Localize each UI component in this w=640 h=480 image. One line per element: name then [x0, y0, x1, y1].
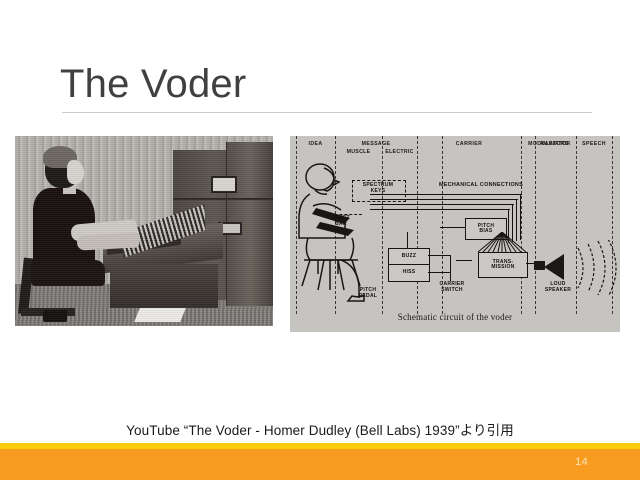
voder-schematic-diagram: IDEA MESSAGE MUSCLE ELECTRIC CARRIER MOD… — [290, 136, 620, 332]
diagram-pitch-bias-input — [440, 227, 465, 228]
source-caption: YouTube “The Voder - Homer Dudley (Bell … — [0, 419, 640, 439]
diagram-carrier-switch-arm — [456, 260, 472, 261]
diagram-hiss-box: HISS — [388, 264, 430, 282]
diagram-label-spectrum-keys: SPECTRUM KEYS — [352, 183, 404, 195]
diagram-bus-line-1 — [370, 194, 522, 195]
title-divider — [62, 112, 592, 113]
diagram-divider-4 — [417, 136, 418, 314]
page-title: The Voder — [60, 62, 246, 106]
slide-number: 14 — [575, 456, 588, 468]
diagram-label-loud-speaker: LOUD SPEAKER — [538, 282, 578, 294]
diagram-transmission-fan — [476, 232, 528, 254]
diagram-bus-line-3 — [370, 204, 514, 205]
diagram-heading-message: MESSAGE — [335, 141, 417, 147]
diagram-label-wrist-bar: WRIST BAR — [324, 216, 358, 228]
diagram-wrist-bar-leader — [320, 214, 362, 216]
photo-operator-face — [67, 160, 84, 184]
photo-cabinet-seam — [173, 198, 273, 200]
photo-operator-lap — [31, 260, 105, 286]
diagram-heading-electric: ELECTRIC — [382, 149, 417, 155]
diagram-heading-speech: SPEECH — [576, 141, 612, 147]
photo-desk-base — [110, 264, 218, 308]
diagram-buzz-input — [407, 232, 408, 248]
diagram-transmission-box: TRANS- MISSION — [478, 252, 528, 278]
slide: The Voder — [0, 0, 640, 480]
diagram-label-pitch-pedal: PITCH PEDAL — [350, 288, 386, 300]
diagram-divider-7 — [535, 136, 536, 314]
diagram-heading-idea: IDEA — [296, 141, 335, 147]
diagram-hiss-output — [428, 272, 450, 273]
diagram-loudspeaker-horn — [544, 254, 564, 280]
photo-paper-sheet — [134, 308, 186, 322]
diagram-heading-radiator: RADIATOR — [535, 141, 576, 147]
photo-meter — [211, 176, 237, 193]
photo-content — [15, 136, 273, 326]
diagram-heading-muscle: MUSCLE — [335, 149, 382, 155]
diagram-heading-carrier: CARRIER — [417, 141, 521, 147]
diagram-label-mechanical-connections: MECHANICAL CONNECTIONS — [426, 182, 536, 188]
diagram-carrier-switch-stem — [450, 255, 451, 281]
diagram-buzz-output — [428, 255, 450, 256]
diagram-bus-line-4 — [370, 209, 510, 210]
diagram-sound-waves — [574, 240, 618, 296]
diagram-label-carrier-switch: CARRIER SWITCH — [430, 282, 474, 294]
photo-foot-pedal — [43, 310, 67, 322]
footer-bar-orange — [0, 449, 640, 480]
diagram-caption: Schematic circuit of the voder — [290, 312, 620, 322]
voder-operator-photo — [15, 136, 273, 326]
diagram-bus-line-2 — [370, 199, 518, 200]
